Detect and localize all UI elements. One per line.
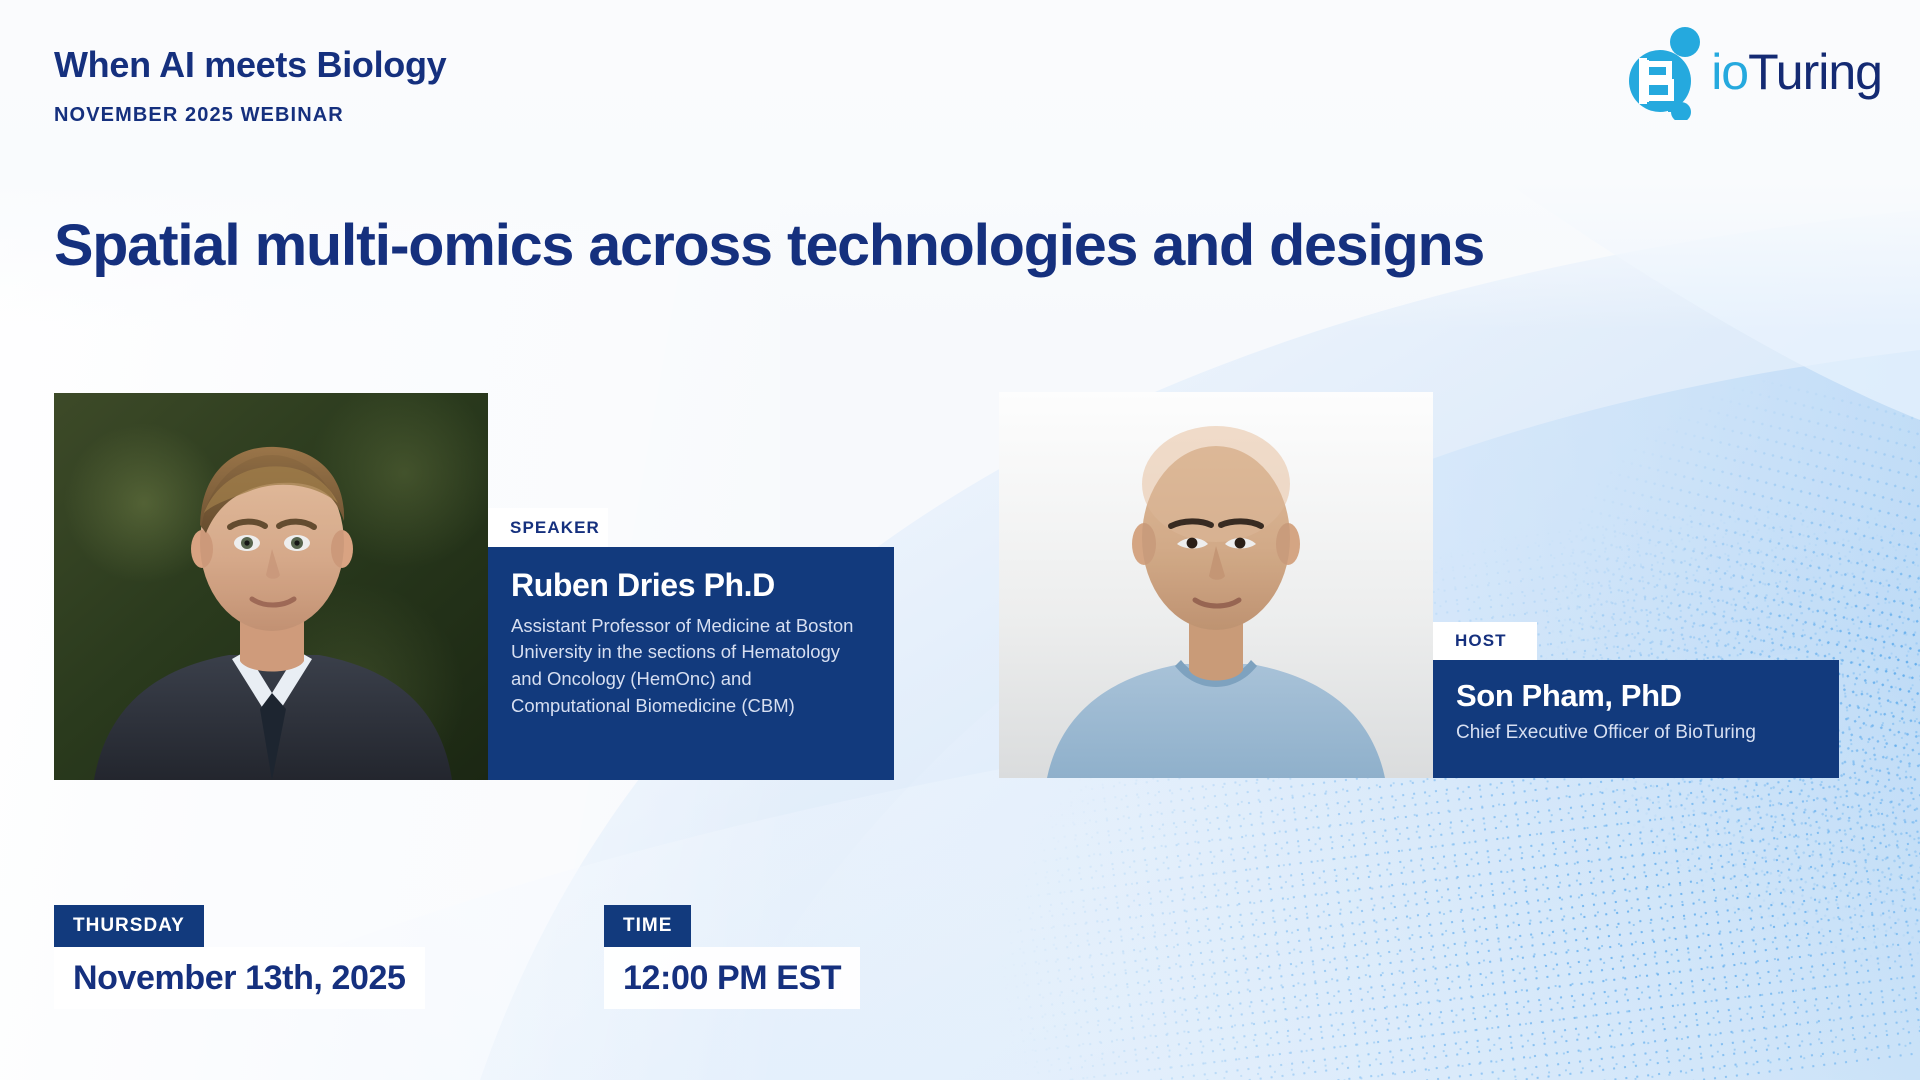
logo-wordmark: ioTuring	[1711, 47, 1882, 97]
series-title: When AI meets Biology	[54, 44, 446, 86]
host-portrait-image	[999, 392, 1433, 778]
speaker-photo	[54, 393, 488, 780]
date-block: THURSDAY November 13th, 2025	[54, 905, 425, 1009]
webinar-title: Spatial multi-omics across technologies …	[54, 212, 1484, 279]
time-value: 12:00 PM EST	[604, 947, 860, 1009]
speaker-role: Assistant Professor of Medicine at Bosto…	[511, 613, 870, 720]
series-subtitle: NOVEMBER 2025 WEBINAR	[54, 104, 344, 127]
host-tag: HOST	[1433, 622, 1537, 660]
speaker-name: Ruben Dries Ph.D	[511, 569, 870, 603]
host-role: Chief Executive Officer of BioTuring	[1456, 719, 1815, 747]
host-photo	[999, 392, 1433, 778]
speaker-info-card: Ruben Dries Ph.D Assistant Professor of …	[488, 547, 894, 780]
logo-turing-text: Turing	[1748, 44, 1882, 100]
host-name: Son Pham, PhD	[1456, 680, 1815, 713]
day-tag: THURSDAY	[54, 905, 204, 947]
speaker-portrait-image	[54, 393, 488, 780]
bioturing-logo: ioTuring	[1613, 24, 1882, 120]
time-tag: TIME	[604, 905, 691, 947]
time-block: TIME 12:00 PM EST	[604, 905, 860, 1009]
bioturing-mark-icon	[1613, 24, 1717, 120]
host-info-card: Son Pham, PhD Chief Executive Officer of…	[1433, 660, 1839, 778]
logo-io-text: io	[1711, 44, 1748, 100]
date-value: November 13th, 2025	[54, 947, 425, 1009]
speaker-tag: SPEAKER	[488, 508, 608, 547]
